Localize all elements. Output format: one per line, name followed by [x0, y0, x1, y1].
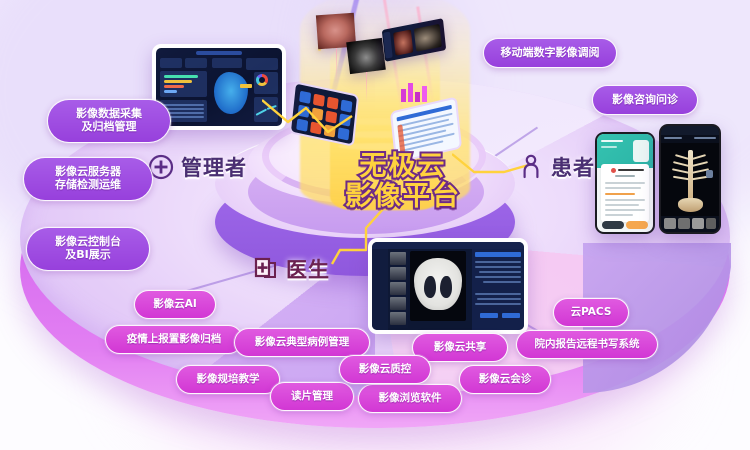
viewer-thumbnail[interactable] — [678, 218, 690, 229]
pacs-thumbnail[interactable] — [390, 267, 406, 280]
report-alert-line — [605, 193, 635, 195]
hospital-mark-icon — [611, 168, 616, 173]
report-sub-line — [615, 175, 635, 177]
header-title-line — [601, 140, 623, 142]
report-primary-button[interactable] — [602, 221, 624, 229]
bi-table-row — [163, 108, 204, 110]
pacs-worklist-panel — [472, 249, 524, 330]
bi-donut-hole — [259, 77, 265, 83]
endoscopy-panel-stalk — [336, 48, 337, 82]
app-tile — [324, 124, 336, 137]
header-sub-line — [601, 146, 617, 148]
title-line-2: 影像平台 — [318, 182, 488, 212]
pill-doctor-0[interactable]: 影像云AI — [134, 290, 216, 319]
person-icon — [518, 154, 544, 180]
report-title-line — [618, 169, 644, 171]
patient-report-phone[interactable] — [595, 132, 655, 234]
pacs-worklist-row — [477, 298, 521, 300]
pacs-panel-header — [475, 252, 521, 257]
role-doctor[interactable]: 医生 — [253, 254, 330, 284]
pacs-thumbnail[interactable] — [390, 312, 406, 325]
pacs-viewer-screen — [372, 242, 524, 330]
pill-doctor-7[interactable]: 影像云质控 — [339, 355, 431, 384]
doctor-avatar — [633, 140, 649, 162]
wide-viewer-image-b — [414, 24, 442, 52]
rib-graphic — [673, 176, 689, 180]
report-body-line — [605, 204, 639, 206]
bi-dashboard-monitor[interactable] — [152, 44, 286, 130]
pacs-action-button[interactable] — [502, 313, 520, 318]
pill-doctor-2[interactable]: 影像云典型病例管理 — [234, 328, 370, 357]
bi-kpi-card — [185, 58, 207, 68]
bi-title-bar — [196, 51, 242, 55]
patient-image-phone[interactable] — [659, 124, 721, 234]
report-field-line — [605, 182, 645, 184]
role-admin-label: 管理者 — [181, 152, 247, 182]
pacs-thumbnail[interactable] — [390, 282, 406, 295]
rib-graphic — [692, 161, 708, 167]
role-patient-label: 患者 — [551, 152, 595, 182]
report-field-line — [605, 187, 641, 189]
pill-doctor-8[interactable]: 影像云会诊 — [459, 365, 551, 394]
pill-admin-2[interactable]: 影像云控制台 及BI展示 — [26, 227, 150, 271]
patient-report-screen — [597, 134, 653, 232]
app-tile — [296, 119, 308, 132]
role-doctor-label: 医生 — [286, 254, 330, 284]
pill-patient-0[interactable]: 移动端数字影像调阅 — [483, 38, 617, 68]
viewer-thumbnail[interactable] — [664, 218, 676, 229]
patient-image-screen — [661, 126, 719, 232]
pacs-viewer-monitor[interactable] — [368, 238, 528, 334]
role-patient[interactable]: 患者 — [518, 152, 595, 182]
app-tile — [327, 97, 339, 110]
rib-graphic — [673, 161, 689, 167]
pill-doctor-5[interactable]: 影像浏览软件 — [358, 384, 462, 413]
bi-kpi-card — [160, 58, 182, 68]
report-body-line — [605, 209, 645, 211]
bi-area-chart — [246, 58, 278, 70]
report-body-line — [605, 214, 633, 216]
viewer-meta-line — [694, 137, 716, 139]
pill-patient-1[interactable]: 影像咨询问诊 — [592, 85, 698, 115]
page-title: 无极云 影像平台 — [318, 152, 488, 211]
bi-map-label — [240, 84, 252, 88]
pill-admin-0[interactable]: 影像数据采集 及归档管理 — [47, 99, 171, 143]
report-secondary-button[interactable] — [626, 221, 648, 229]
bi-bar — [164, 85, 184, 88]
pacs-thumbnail[interactable] — [390, 297, 406, 310]
role-admin[interactable]: 管理者 — [148, 152, 247, 182]
rib-graphic — [672, 168, 689, 173]
rib-graphic — [675, 154, 689, 160]
pill-doctor-3[interactable]: 影像规培教学 — [176, 365, 280, 394]
orientation-marker — [706, 170, 713, 178]
infographic-canvas: 无极云 影像平台 管理者 患者 — [0, 0, 750, 450]
pacs-tool-rail — [372, 249, 388, 330]
bi-bar — [164, 80, 192, 83]
pacs-thumbnail[interactable] — [390, 252, 406, 265]
pill-doctor-10[interactable]: 院内报告远程书写系统 — [516, 330, 658, 359]
app-tile — [340, 99, 352, 112]
bi-table-row — [163, 104, 204, 106]
viewer-thumbnail[interactable] — [692, 218, 704, 229]
pill-doctor-6[interactable]: 影像云共享 — [412, 333, 508, 362]
rib-graphic — [692, 154, 706, 160]
ct-lung-right — [440, 276, 452, 298]
pacs-toolbar — [372, 242, 524, 249]
bi-bar — [164, 75, 198, 78]
ct-lung-left — [424, 276, 436, 298]
wide-viewer-image-a — [393, 29, 413, 55]
viewer-meta-line — [664, 137, 682, 139]
pill-admin-1[interactable]: 影像云服务器 存储检测运维 — [23, 157, 153, 201]
pacs-worklist-row — [483, 281, 521, 283]
pacs-action-button[interactable] — [480, 313, 498, 318]
ultrasound-panel-stalk — [366, 72, 367, 102]
bi-kpi-card — [212, 58, 242, 68]
pacs-worklist-row — [475, 276, 521, 278]
app-tile — [325, 110, 337, 123]
pacs-worklist-row — [475, 303, 521, 305]
app-tile — [338, 127, 350, 140]
pill-doctor-9[interactable]: 云PACS — [553, 298, 629, 327]
app-tile — [298, 105, 310, 118]
app-tile — [313, 94, 325, 107]
app-tile — [339, 113, 351, 126]
wide-viewer-sidebar — [383, 31, 393, 58]
pill-doctor-4[interactable]: 读片管理 — [270, 382, 354, 411]
pelvis-graphic — [678, 198, 703, 212]
bi-bar — [164, 90, 177, 93]
pacs-worklist-row — [475, 266, 521, 268]
report-body-line — [605, 199, 645, 201]
chest-ct-image — [414, 258, 462, 310]
app-tile — [311, 108, 323, 121]
pacs-worklist-row — [479, 271, 521, 273]
pill-doctor-1[interactable]: 疫情上报置影像归档 — [105, 325, 243, 354]
document-plus-icon — [253, 256, 279, 282]
app-tile — [299, 91, 311, 104]
ultrasound-panel — [346, 38, 386, 74]
pacs-worklist-row — [475, 261, 521, 263]
pacs-thumbnail-strip — [388, 250, 408, 328]
pacs-worklist-row — [475, 293, 521, 295]
bi-china-map — [214, 72, 248, 114]
title-line-1: 无极云 — [318, 152, 488, 182]
viewer-thumbnail[interactable] — [706, 218, 716, 229]
app-tile — [310, 121, 322, 134]
viewer-toolbar — [661, 126, 719, 135]
bi-dashboard-screen — [156, 48, 282, 126]
